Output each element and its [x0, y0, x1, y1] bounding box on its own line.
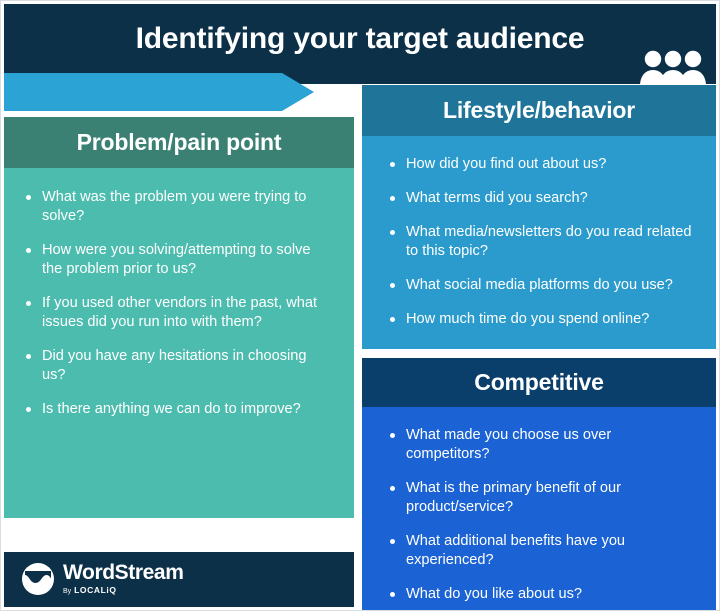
list-item: What media/newsletters do you read relat…	[388, 223, 696, 261]
question-list-lifestyle: How did you find out about us? What term…	[388, 155, 696, 329]
card-title-lifestyle: Lifestyle/behavior	[362, 85, 716, 136]
list-item: If you used other vendors in the past, w…	[24, 294, 332, 332]
people-group-icon	[640, 50, 706, 86]
list-item: What do you like about us?	[388, 585, 696, 604]
bullet-icon	[390, 433, 395, 438]
question-text: How were you solving/attempting to solve…	[42, 242, 311, 277]
bullet-icon	[26, 407, 31, 412]
question-text: How much time do you spend online?	[406, 311, 649, 327]
list-item: How much time do you spend online?	[388, 310, 696, 329]
list-item: What terms did you search?	[388, 189, 696, 208]
list-item: Did you have any hesitations in choosing…	[24, 347, 332, 385]
card-competitive: Competitive What made you choose us over…	[362, 358, 716, 611]
list-item: How were you solving/attempting to solve…	[24, 241, 332, 279]
list-item: What is the primary benefit of our produ…	[388, 479, 696, 517]
question-text: What do you like about us?	[406, 586, 582, 602]
bullet-icon	[26, 354, 31, 359]
card-title-competitive: Competitive	[362, 358, 716, 407]
question-list-competitive: What made you choose us over competitors…	[388, 426, 696, 604]
bullet-icon	[26, 248, 31, 253]
wordstream-wave-icon	[22, 563, 54, 595]
question-text: How did you find out about us?	[406, 156, 606, 172]
question-text: Is there anything we can do to improve?	[42, 401, 301, 417]
bullet-icon	[26, 195, 31, 200]
wordstream-logo: WordStream By LOCALiQ	[22, 562, 183, 595]
card-body-lifestyle: How did you find out about us? What term…	[362, 136, 716, 349]
question-text: What made you choose us over competitors…	[406, 427, 611, 462]
card-lifestyle-behavior: Lifestyle/behavior How did you find out …	[362, 85, 716, 349]
card-problem-pain-point: Problem/pain point What was the problem …	[4, 117, 354, 518]
question-text: If you used other vendors in the past, w…	[42, 295, 317, 330]
bullet-icon	[26, 301, 31, 306]
card-title-problem: Problem/pain point	[4, 117, 354, 168]
logo-subtitle: By LOCALiQ	[63, 586, 183, 595]
list-item: What was the problem you were trying to …	[24, 188, 332, 226]
ribbon-label: Questions to ask your customers	[14, 9, 269, 28]
bullet-icon	[390, 230, 395, 235]
bullet-icon	[390, 539, 395, 544]
question-text: What additional benefits have you experi…	[406, 533, 625, 568]
question-text: What media/newsletters do you read relat…	[406, 224, 692, 259]
bullet-icon	[390, 283, 395, 288]
question-text: What was the problem you were trying to …	[42, 189, 306, 224]
card-body-problem: What was the problem you were trying to …	[4, 168, 354, 518]
question-list-problem: What was the problem you were trying to …	[24, 188, 332, 419]
ribbon-banner	[4, 73, 314, 111]
bullet-icon	[390, 162, 395, 167]
bullet-icon	[390, 317, 395, 322]
logo-by-text: By	[63, 588, 71, 595]
card-body-competitive: What made you choose us over competitors…	[362, 407, 716, 611]
question-text: What terms did you search?	[406, 190, 588, 206]
bullet-icon	[390, 196, 395, 201]
list-item: What social media platforms do you use?	[388, 276, 696, 295]
list-item: What made you choose us over competitors…	[388, 426, 696, 464]
logo-name: WordStream	[63, 562, 183, 583]
infographic-root: Identifying your target audience Questio…	[0, 0, 720, 611]
bullet-icon	[390, 486, 395, 491]
list-item: What additional benefits have you experi…	[388, 532, 696, 570]
list-item: Is there anything we can do to improve?	[24, 400, 332, 419]
right-column: Lifestyle/behavior How did you find out …	[362, 85, 716, 607]
question-text: Did you have any hesitations in choosing…	[42, 348, 306, 383]
logo-parent-brand: LOCALiQ	[74, 585, 116, 595]
question-text: What social media platforms do you use?	[406, 277, 673, 293]
logo-bar: WordStream By LOCALiQ	[4, 552, 354, 607]
question-text: What is the primary benefit of our produ…	[406, 480, 621, 515]
list-item: How did you find out about us?	[388, 155, 696, 174]
logo-wordmark: WordStream By LOCALiQ	[63, 562, 183, 595]
bullet-icon	[390, 592, 395, 597]
left-column: Problem/pain point What was the problem …	[4, 117, 354, 607]
